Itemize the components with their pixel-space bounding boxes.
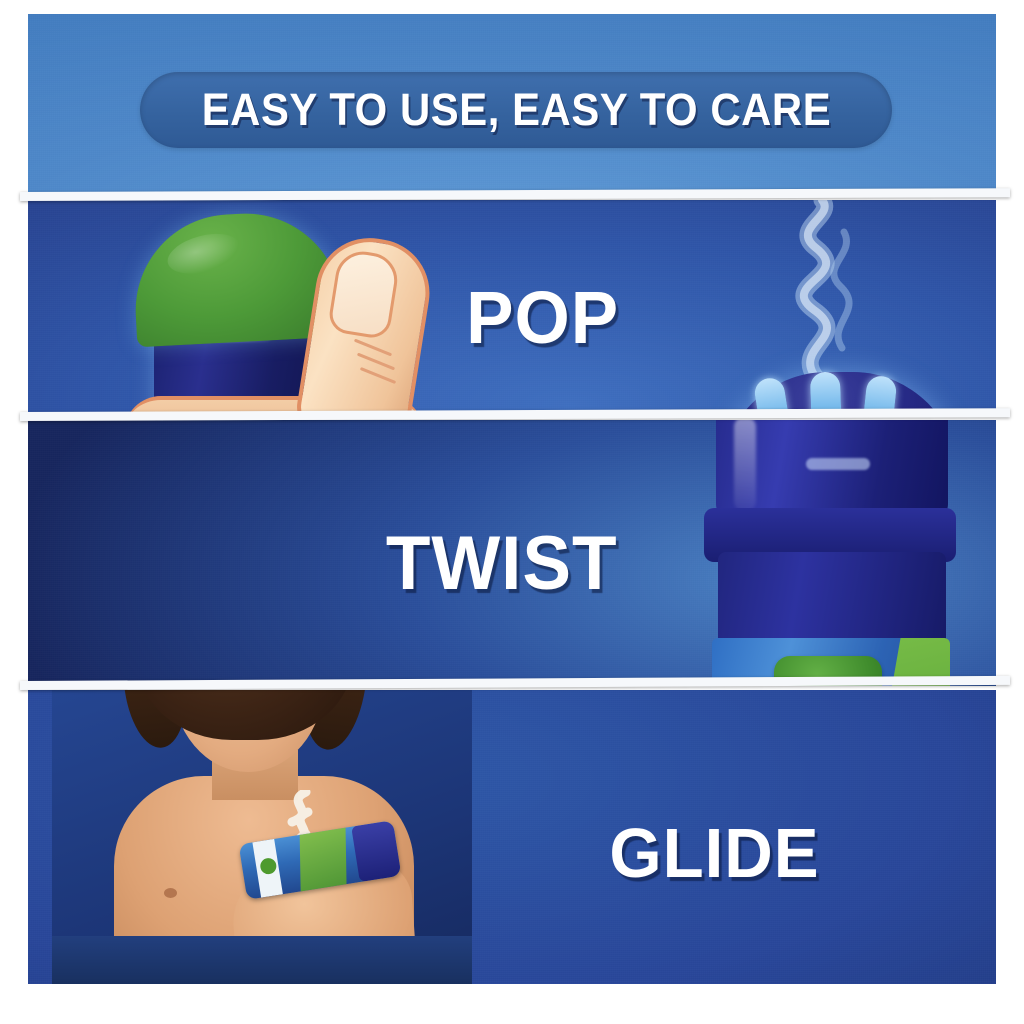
- torso-detail: [164, 888, 177, 898]
- child-photo: [52, 690, 472, 984]
- cap-highlight: [734, 420, 756, 512]
- step-label-twist: TWIST: [386, 520, 618, 607]
- cap-highlight: [163, 227, 244, 281]
- label-green-swoosh: [300, 827, 347, 894]
- bedding: [52, 936, 472, 984]
- cap-highlight: [806, 458, 870, 470]
- step-band-glide: [28, 690, 996, 984]
- advertisement-canvas: EASY TO USE, EASY TO CARE: [0, 0, 1024, 1024]
- applicator-end: [351, 820, 401, 882]
- vapor-swirl-icon: [756, 200, 884, 384]
- headline-text: EASY TO USE, EASY TO CARE: [201, 84, 830, 136]
- headline-pill: EASY TO USE, EASY TO CARE: [140, 72, 892, 148]
- step-label-pop: POP: [466, 275, 619, 360]
- glide-photo: [28, 690, 996, 984]
- step-label-glide: GLIDE: [609, 813, 819, 893]
